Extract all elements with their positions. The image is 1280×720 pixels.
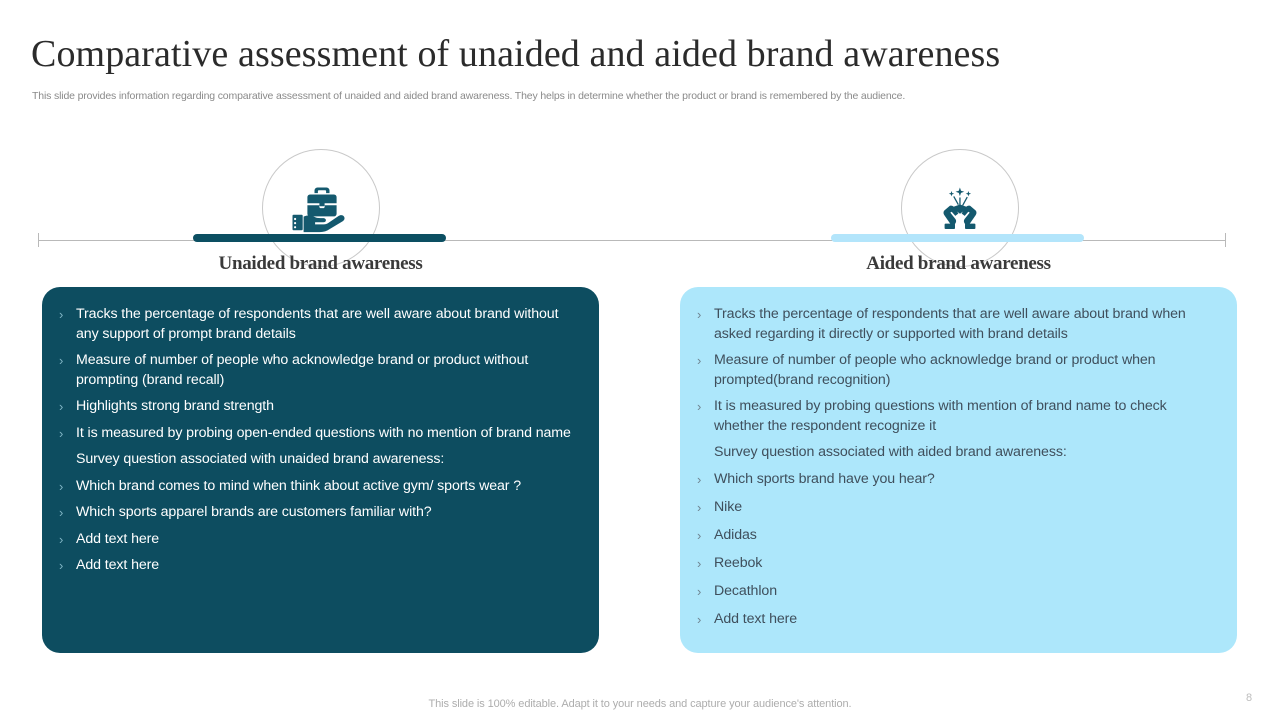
list-item-label: Nike	[714, 498, 1217, 518]
list-item: ›Add text here	[56, 556, 579, 576]
briefcase-in-hand-icon	[290, 180, 352, 236]
list-item: ›Tracks the percentage of respondents th…	[694, 305, 1217, 344]
list-item: ›Decathlon	[694, 582, 1217, 602]
list-item: ›Highlights strong brand strength	[56, 397, 579, 417]
chevron-right-icon: ›	[694, 498, 714, 518]
list-item-label: Tracks the percentage of respondents tha…	[76, 305, 579, 344]
list-item-label: Add text here	[76, 556, 579, 576]
list-item-label: Survey question associated with aided br…	[714, 443, 1217, 463]
column-heading-unaided: Unaided brand awareness	[42, 252, 599, 276]
chevron-right-icon: ›	[694, 305, 714, 325]
list-item-note: Survey question associated with aided br…	[694, 443, 1217, 463]
list-item-label: Survey question associated with unaided …	[76, 450, 579, 470]
chevron-right-icon: ›	[56, 305, 76, 325]
list-item: ›Add text here	[694, 610, 1217, 630]
icon-circle-aided	[901, 149, 1019, 267]
card-unaided: ›Tracks the percentage of respondents th…	[42, 287, 599, 653]
chevron-right-icon: ›	[694, 397, 714, 417]
list-item: ›It is measured by probing questions wit…	[694, 397, 1217, 436]
accent-bar-aided	[831, 234, 1084, 242]
list-item-label: Measure of number of people who acknowle…	[76, 351, 579, 390]
list-item-label: Which brand comes to mind when think abo…	[76, 477, 579, 497]
chevron-right-icon: ›	[56, 530, 76, 550]
list-item-label: Adidas	[714, 526, 1217, 546]
list-item: ›Which sports apparel brands are custome…	[56, 503, 579, 523]
slide-root: Comparative assessment of unaided and ai…	[0, 0, 1280, 720]
chevron-right-icon: ›	[694, 582, 714, 602]
chevron-right-icon: ›	[56, 351, 76, 371]
chevron-right-icon: ›	[56, 397, 76, 417]
chevron-right-icon: ›	[694, 610, 714, 630]
chevron-right-icon: ›	[694, 554, 714, 574]
card-aided: ›Tracks the percentage of respondents th…	[680, 287, 1237, 653]
list-item-label: Decathlon	[714, 582, 1217, 602]
list-item: ›Which sports brand have you hear?	[694, 470, 1217, 490]
bullet-list-unaided: ›Tracks the percentage of respondents th…	[56, 305, 579, 576]
list-item-label: Which sports apparel brands are customer…	[76, 503, 579, 523]
list-item: ›Tracks the percentage of respondents th…	[56, 305, 579, 344]
list-item: ›Add text here	[56, 530, 579, 550]
divider-tick-right	[1225, 233, 1226, 247]
footer-note: This slide is 100% editable. Adapt it to…	[0, 698, 1280, 710]
list-item: ›Nike	[694, 498, 1217, 518]
chevron-right-icon: ›	[694, 526, 714, 546]
chevron-right-icon: ›	[56, 477, 76, 497]
list-item-label: It is measured by probing questions with…	[714, 397, 1217, 436]
list-item: ›It is measured by probing open-ended qu…	[56, 424, 579, 444]
chevron-right-icon: ›	[56, 503, 76, 523]
column-heading-aided: Aided brand awareness	[680, 252, 1237, 276]
list-item-note: Survey question associated with unaided …	[56, 450, 579, 470]
list-item: ›Reebok	[694, 554, 1217, 574]
list-item-label: Reebok	[714, 554, 1217, 574]
list-item: ›Measure of number of people who acknowl…	[694, 351, 1217, 390]
list-item-label: Measure of number of people who acknowle…	[714, 351, 1217, 390]
list-item: ›Which brand comes to mind when think ab…	[56, 477, 579, 497]
chevron-right-icon: ›	[56, 556, 76, 576]
list-item-label: Which sports brand have you hear?	[714, 470, 1217, 490]
list-item-label: Tracks the percentage of respondents tha…	[714, 305, 1217, 344]
chevron-right-icon: ›	[694, 470, 714, 490]
list-item-label: Add text here	[76, 530, 579, 550]
icon-circle-unaided	[262, 149, 380, 267]
list-item: ›Adidas	[694, 526, 1217, 546]
accent-bar-unaided	[193, 234, 446, 242]
page-subtitle: This slide provides information regardin…	[32, 89, 905, 103]
divider-tick-left	[38, 233, 39, 247]
page-title: Comparative assessment of unaided and ai…	[31, 32, 1000, 76]
list-item-label: It is measured by probing open-ended que…	[76, 424, 579, 444]
list-item: ›Measure of number of people who acknowl…	[56, 351, 579, 390]
hands-holding-star-icon	[931, 179, 989, 237]
bullet-list-aided: ›Tracks the percentage of respondents th…	[694, 305, 1217, 629]
page-number: 8	[1246, 692, 1252, 704]
list-item-label: Add text here	[714, 610, 1217, 630]
list-item-label: Highlights strong brand strength	[76, 397, 579, 417]
chevron-right-icon: ›	[694, 351, 714, 371]
chevron-right-icon: ›	[56, 424, 76, 444]
